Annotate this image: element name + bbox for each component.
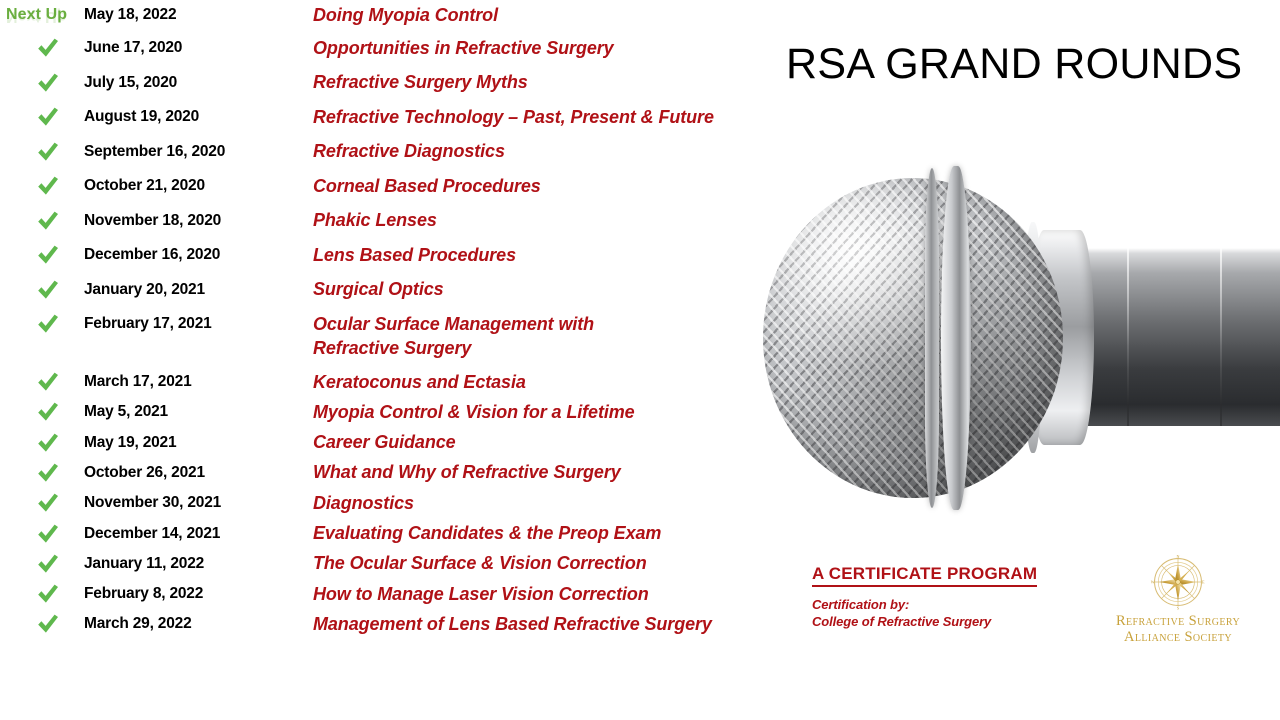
check-icon bbox=[36, 491, 60, 515]
check-icon bbox=[36, 140, 60, 164]
logo-text-line2: Alliance Society bbox=[1098, 629, 1258, 645]
schedule-row: May 5, 2021Myopia Control & Vision for a… bbox=[0, 397, 800, 427]
check-icon bbox=[36, 522, 60, 546]
schedule-row: February 8, 2022How to Manage Laser Visi… bbox=[0, 579, 800, 609]
schedule-row: September 16, 2020Refractive Diagnostics bbox=[0, 137, 800, 167]
microphone-handle-seam bbox=[1220, 248, 1222, 426]
session-date: August 19, 2020 bbox=[84, 108, 313, 126]
session-topic: Phakic Lenses bbox=[313, 210, 800, 231]
microphone-band bbox=[925, 168, 939, 508]
session-date: November 18, 2020 bbox=[84, 212, 313, 230]
check-icon bbox=[36, 278, 60, 302]
slide-canvas: June 17, 2020Opportunities in Refractive… bbox=[0, 0, 1280, 720]
session-date: December 14, 2021 bbox=[84, 525, 313, 543]
check-icon bbox=[36, 612, 60, 636]
session-topic: Opportunities in Refractive Surgery bbox=[313, 38, 800, 59]
check-icon bbox=[36, 370, 60, 394]
schedule-list: June 17, 2020Opportunities in Refractive… bbox=[0, 0, 800, 720]
check-icon bbox=[36, 174, 60, 198]
session-topic: Corneal Based Procedures bbox=[313, 176, 800, 197]
microphone-handle bbox=[1075, 248, 1280, 426]
schedule-row: January 11, 2022The Ocular Surface & Vis… bbox=[0, 549, 800, 579]
session-date: December 16, 2020 bbox=[84, 246, 313, 264]
session-date: January 11, 2022 bbox=[84, 555, 313, 573]
check-icon bbox=[36, 105, 60, 129]
session-topic: Doing Myopia Control bbox=[313, 5, 800, 26]
check-icon bbox=[36, 552, 60, 576]
certificate-heading: A CERTIFICATE PROGRAM bbox=[812, 564, 1037, 587]
session-date: June 17, 2020 bbox=[84, 39, 313, 57]
check-icon bbox=[36, 400, 60, 424]
schedule-row: December 14, 2021Evaluating Candidates &… bbox=[0, 519, 800, 549]
session-date: July 15, 2020 bbox=[84, 74, 313, 92]
session-topic: Diagnostics bbox=[313, 493, 800, 514]
check-icon bbox=[36, 36, 60, 60]
session-topic: Keratoconus and Ectasia bbox=[313, 372, 800, 393]
session-date: September 16, 2020 bbox=[84, 143, 313, 161]
svg-text:N: N bbox=[1177, 554, 1180, 559]
completed-marker bbox=[0, 367, 84, 397]
certificate-program-block: A CERTIFICATE PROGRAM Certification by: … bbox=[812, 564, 1082, 629]
check-icon bbox=[36, 312, 60, 336]
completed-marker bbox=[0, 488, 84, 518]
check-icon bbox=[36, 243, 60, 267]
schedule-row: June 17, 2020Opportunities in Refractive… bbox=[0, 33, 800, 63]
session-date: January 20, 2021 bbox=[84, 281, 313, 299]
session-topic: Evaluating Candidates & the Preop Exam bbox=[313, 523, 800, 544]
schedule-row: January 20, 2021Surgical Optics bbox=[0, 275, 800, 305]
completed-marker bbox=[0, 33, 84, 63]
session-date: May 18, 2022 bbox=[84, 6, 313, 24]
page-title: RSA GRAND ROUNDS bbox=[786, 40, 1266, 89]
certifying-body-name: College of Refractive Surgery bbox=[812, 614, 1082, 629]
microphone-shading bbox=[763, 178, 1063, 498]
session-date: March 17, 2021 bbox=[84, 373, 313, 391]
microphone-illustration bbox=[755, 160, 1280, 560]
completed-marker bbox=[0, 275, 84, 305]
completed-marker bbox=[0, 102, 84, 132]
check-icon bbox=[36, 461, 60, 485]
session-topic: What and Why of Refractive Surgery bbox=[313, 462, 800, 483]
session-topic-continuation: Refractive Surgery bbox=[313, 338, 471, 359]
session-topic: Refractive Surgery Myths bbox=[313, 72, 800, 93]
check-icon bbox=[36, 431, 60, 455]
completed-marker bbox=[0, 579, 84, 609]
completed-marker bbox=[0, 171, 84, 201]
microphone-band bbox=[941, 166, 971, 510]
svg-text:S: S bbox=[1177, 606, 1180, 611]
completed-marker bbox=[0, 309, 84, 339]
session-topic: The Ocular Surface & Vision Correction bbox=[313, 553, 800, 574]
session-topic: How to Manage Laser Vision Correction bbox=[313, 584, 800, 605]
certification-by-label: Certification by: bbox=[812, 597, 1082, 612]
completed-marker bbox=[0, 137, 84, 167]
session-date: October 26, 2021 bbox=[84, 464, 313, 482]
schedule-row: March 29, 2022Management of Lens Based R… bbox=[0, 609, 800, 639]
check-icon bbox=[36, 209, 60, 233]
session-topic: Refractive Technology – Past, Present & … bbox=[313, 107, 800, 128]
check-icon bbox=[36, 582, 60, 606]
schedule-row: November 30, 2021Diagnostics bbox=[0, 488, 800, 518]
completed-marker bbox=[0, 428, 84, 458]
session-topic: Surgical Optics bbox=[313, 279, 800, 300]
session-topic: Myopia Control & Vision for a Lifetime bbox=[313, 402, 800, 423]
microphone-handle-seam bbox=[1127, 248, 1129, 426]
compass-rose-icon: N E S W bbox=[1098, 552, 1258, 612]
schedule-row: March 17, 2021Keratoconus and Ectasia bbox=[0, 367, 800, 397]
schedule-row: February 17, 2021Ocular Surface Manageme… bbox=[0, 309, 800, 339]
next-up-label: Next Up bbox=[6, 6, 67, 24]
session-date: February 17, 2021 bbox=[84, 315, 313, 333]
session-date: February 8, 2022 bbox=[84, 585, 313, 603]
schedule-row: May 19, 2021Career Guidance bbox=[0, 428, 800, 458]
session-topic: Lens Based Procedures bbox=[313, 245, 800, 266]
session-date: October 21, 2020 bbox=[84, 177, 313, 195]
check-icon bbox=[36, 71, 60, 95]
completed-marker bbox=[0, 519, 84, 549]
schedule-row: Next UpNext UpMay 18, 2022Doing Myopia C… bbox=[0, 0, 800, 30]
schedule-row: August 19, 2020Refractive Technology – P… bbox=[0, 102, 800, 132]
logo-text-line1: Refractive Surgery bbox=[1098, 613, 1258, 629]
schedule-row: December 16, 2020Lens Based Procedures bbox=[0, 240, 800, 270]
session-topic: Management of Lens Based Refractive Surg… bbox=[313, 614, 800, 635]
schedule-row: July 15, 2020Refractive Surgery Myths bbox=[0, 68, 800, 98]
schedule-row: October 26, 2021What and Why of Refracti… bbox=[0, 458, 800, 488]
schedule-row: October 21, 2020Corneal Based Procedures bbox=[0, 171, 800, 201]
session-topic: Career Guidance bbox=[313, 432, 800, 453]
session-topic: Refractive Diagnostics bbox=[313, 141, 800, 162]
completed-marker bbox=[0, 397, 84, 427]
microphone-grille bbox=[763, 178, 1063, 498]
rsa-logo: N E S W Refractive Surgery Alliance Soci… bbox=[1098, 552, 1258, 645]
svg-text:E: E bbox=[1202, 580, 1205, 585]
schedule-row: November 18, 2020Phakic Lenses bbox=[0, 206, 800, 236]
completed-marker bbox=[0, 549, 84, 579]
session-date: May 19, 2021 bbox=[84, 434, 313, 452]
session-topic: Ocular Surface Management with bbox=[313, 314, 800, 335]
next-up-marker: Next UpNext Up bbox=[0, 0, 84, 30]
session-date: May 5, 2021 bbox=[84, 403, 313, 421]
completed-marker bbox=[0, 240, 84, 270]
completed-marker bbox=[0, 68, 84, 98]
session-date: March 29, 2022 bbox=[84, 615, 313, 633]
svg-text:W: W bbox=[1151, 580, 1155, 585]
completed-marker bbox=[0, 206, 84, 236]
completed-marker bbox=[0, 609, 84, 639]
session-date: November 30, 2021 bbox=[84, 494, 313, 512]
completed-marker bbox=[0, 458, 84, 488]
